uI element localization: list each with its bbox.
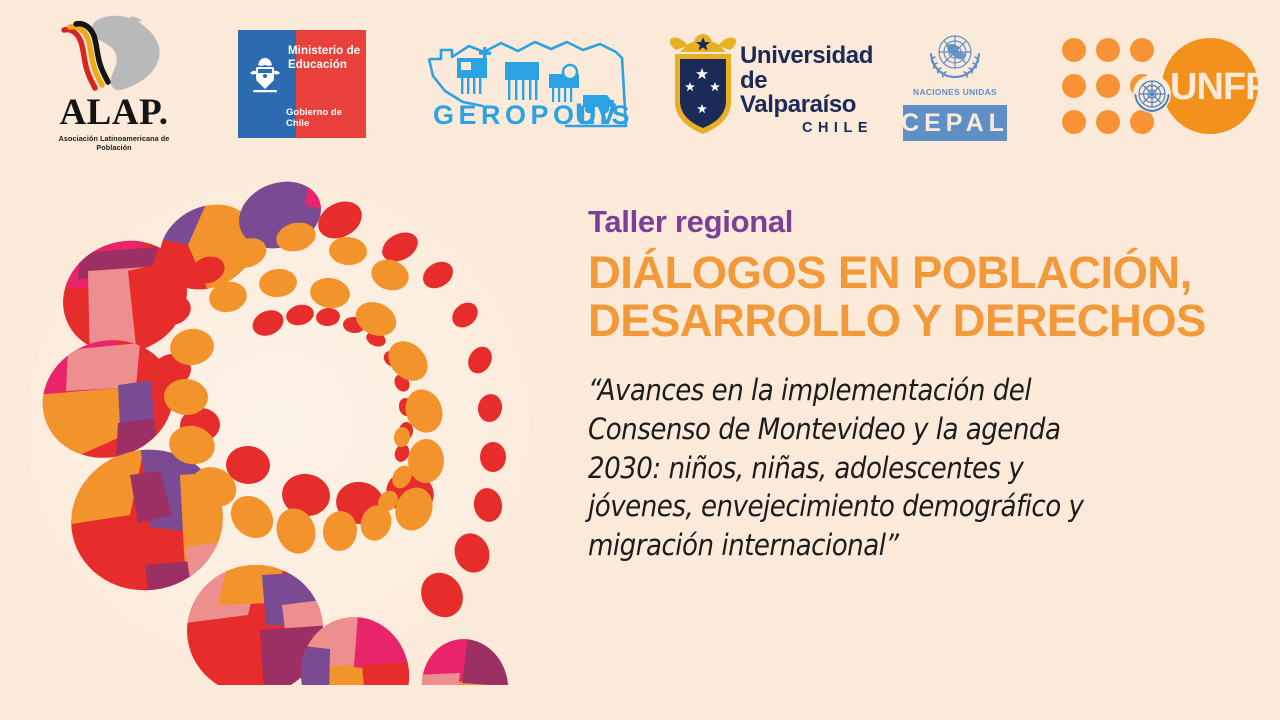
event-subtitle-line-4: jóvenes, envejecimiento demográfico y (588, 487, 1256, 526)
unfpa-un-emblem-icon (1132, 74, 1172, 114)
event-subtitle-line-5: migración internacional” (588, 526, 1256, 565)
logo-alap: ALAP. Asociación Latinoamericana de Pobl… (44, 14, 184, 144)
cepal-band: CEPAL (903, 105, 1007, 141)
event-subtitle-line-1: “Avances en la implementación del (588, 371, 1256, 410)
unfpa-wordmark: UNFPA (1170, 68, 1280, 106)
cepal-wordmark: CEPAL (901, 109, 1009, 138)
event-kicker: Taller regional (588, 206, 1256, 237)
uv-shield-icon (668, 30, 738, 138)
uv-line1: Universidad (740, 44, 873, 69)
poster-canvas: ALAP. Asociación Latinoamericana de Pobl… (0, 0, 1280, 720)
sponsor-logo-bar: ALAP. Asociación Latinoamericana de Pobl… (0, 0, 1280, 160)
logo-geropolis-uv: GEROPOLIS UV (425, 28, 630, 138)
alap-wordmark: ALAP. (44, 94, 184, 131)
alap-tagline: Asociación Latinoamericana de Población (44, 134, 184, 152)
event-title-line1: DIÁLOGOS EN POBLACIÓN, (588, 247, 1192, 298)
united-nations-emblem-icon (924, 27, 986, 85)
latin-america-map-icon (54, 14, 174, 92)
decorative-dot-spiral (10, 175, 570, 685)
naciones-unidas-caption: NACIONES UNIDAS (900, 87, 1010, 97)
ministerio-line1: Ministerio de (288, 44, 360, 58)
logo-ministerio-educacion: Ministerio de Educación Gobierno de Chil… (238, 30, 366, 138)
ministerio-line2: Educación (288, 58, 360, 72)
geropolis-uv-suffix: UV (575, 98, 617, 132)
logo-unfpa: UNFPA (1062, 38, 1257, 138)
logo-cepal: NACIONES UNIDAS CEPAL (900, 27, 1010, 142)
event-title-line2: DESARROLLO Y DERECHOS (588, 297, 1256, 345)
event-subtitle: “Avances en la implementación del Consen… (588, 371, 1256, 564)
logo-universidad-valparaiso: Universidad de Valparaíso CHILE (668, 26, 858, 138)
event-subtitle-line-2: Consenso de Montevideo y la agenda (588, 410, 1256, 449)
gobierno-de-chile-label: Gobierno de Chile (286, 107, 366, 129)
chile-coat-of-arms-icon (248, 56, 282, 94)
uv-line3: CHILE (740, 120, 873, 136)
event-text-block: Taller regional DIÁLOGOS EN POBLACIÓN, D… (588, 206, 1256, 564)
event-title: DIÁLOGOS EN POBLACIÓN, DESARROLLO Y DERE… (588, 249, 1256, 345)
event-subtitle-line-3: 2030: niños, niñas, adolescentes y (588, 449, 1256, 488)
ministerio-name: Ministerio de Educación (288, 44, 360, 72)
uv-wordmark: Universidad de Valparaíso CHILE (740, 44, 873, 136)
uv-line2: de Valparaíso (740, 69, 873, 118)
